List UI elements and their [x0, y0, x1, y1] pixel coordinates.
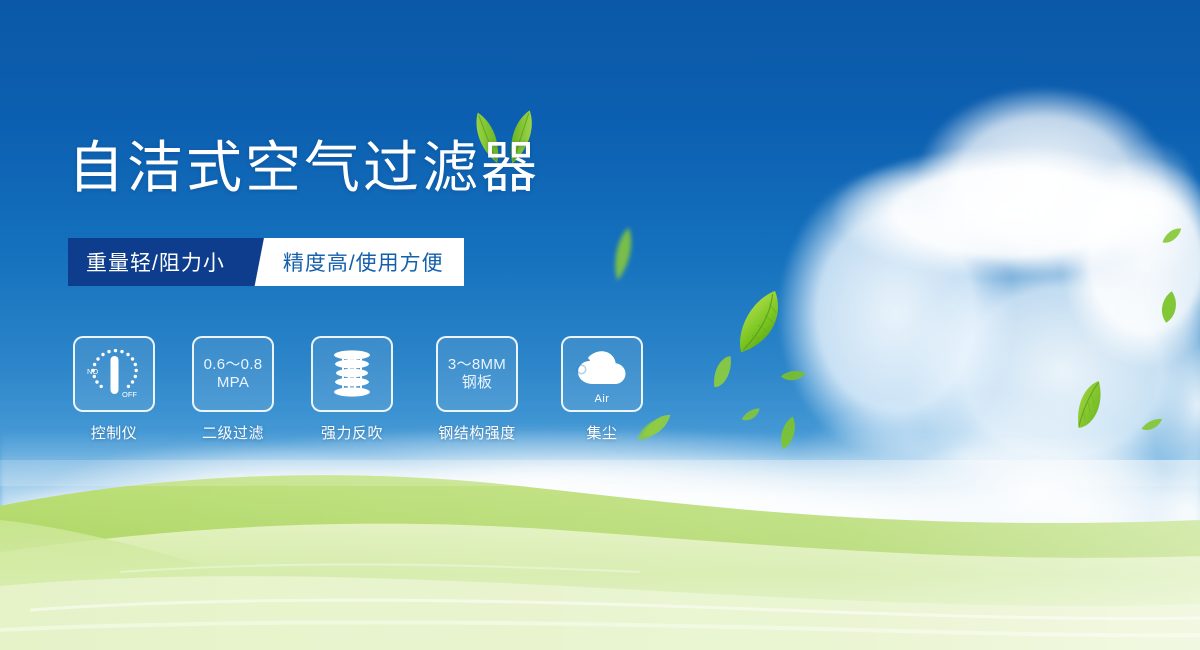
steel-thickness-value: 3～8MM: [448, 356, 506, 374]
filter-cartridge-icon: [323, 346, 381, 402]
feature-label: 二级过滤: [202, 422, 264, 443]
pressure-range-value: 0.6～0.8: [204, 356, 263, 374]
feature-label: 钢结构强度: [438, 422, 516, 443]
page-title: 自洁式空气过滤器: [68, 140, 540, 196]
feature-icon-box: 3～8MM 钢板: [436, 336, 518, 412]
feature-label: 控制仪: [91, 422, 138, 443]
banner-content: 自洁式空气过滤器 重量轻/阻力小 精度高/使用方便: [0, 0, 1200, 650]
pressure-unit-value: MPA: [217, 374, 249, 392]
feature-item-strong-blowback[interactable]: 强力反吹: [306, 336, 398, 443]
feature-item-steel-strength[interactable]: 3～8MM 钢板 钢结构强度: [425, 336, 529, 443]
feature-icon-box: [311, 336, 393, 412]
steel-plate-label: 钢板: [462, 374, 493, 392]
gauge-off-label: OFF: [122, 390, 137, 399]
subtitle-bar: 重量轻/阻力小 精度高/使用方便: [68, 238, 464, 286]
feature-label: 集尘: [586, 422, 617, 443]
gauge-on-label: NO: [87, 367, 98, 376]
air-caption: Air: [595, 393, 610, 405]
feature-icon-box: NO OFF: [73, 336, 155, 412]
subtitle-right-segment: 精度高/使用方便: [273, 238, 464, 286]
feature-item-two-stage-filter[interactable]: 0.6～0.8 MPA 二级过滤: [187, 336, 279, 443]
cloud-air-icon: [570, 344, 634, 392]
feature-label: 强力反吹: [321, 422, 383, 443]
feature-icon-box: Air: [561, 336, 643, 412]
feature-item-control-unit[interactable]: NO OFF 控制仪: [68, 336, 160, 443]
gauge-switch-icon: NO OFF: [82, 345, 146, 403]
feature-icon-box: 0.6～0.8 MPA: [192, 336, 274, 412]
feature-item-dust-collection[interactable]: Air 集尘: [556, 336, 648, 443]
product-hero-banner: 自洁式空气过滤器 重量轻/阻力小 精度高/使用方便: [0, 0, 1200, 650]
subtitle-divider-slash: [247, 238, 273, 286]
feature-list: NO OFF 控制仪 0.6～0.8 MPA 二级过滤: [68, 336, 648, 443]
subtitle-left-segment: 重量轻/阻力小: [68, 238, 247, 286]
